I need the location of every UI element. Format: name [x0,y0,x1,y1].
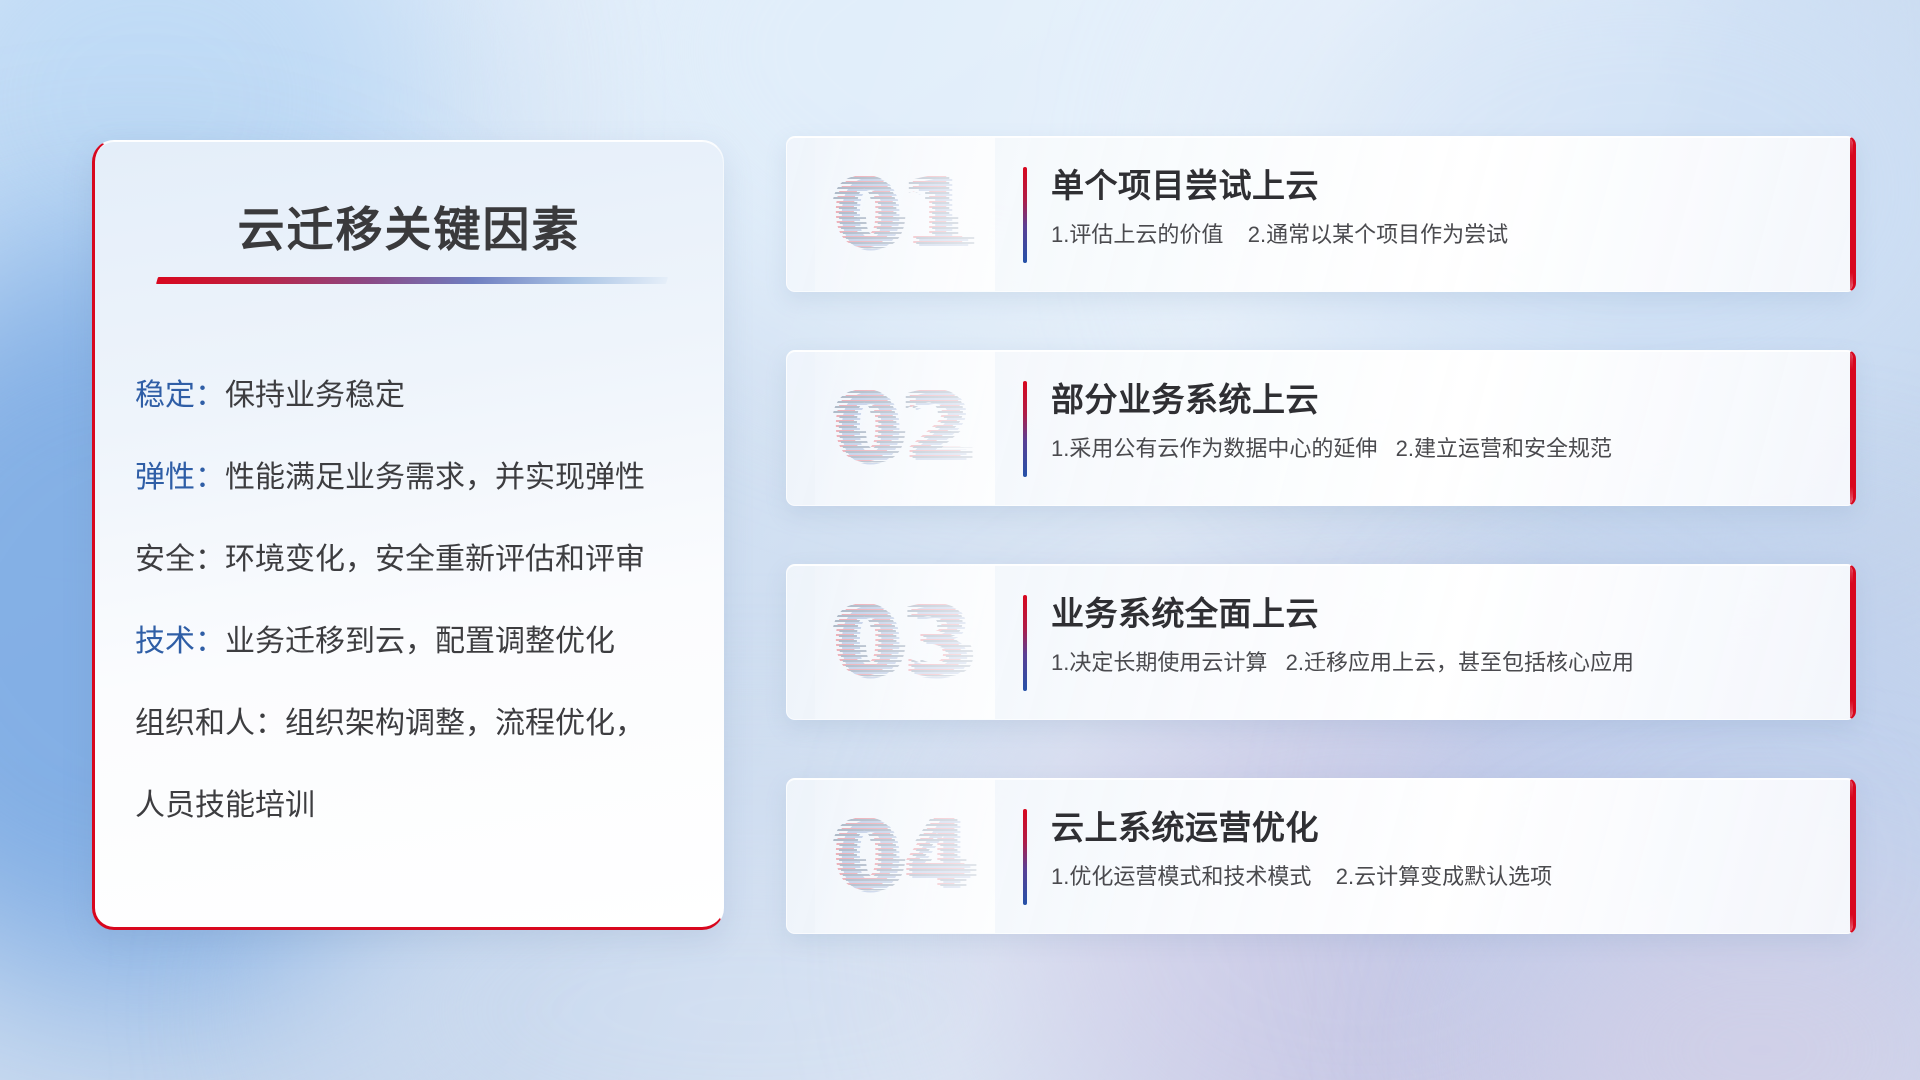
factor-label: 技术： [135,625,225,658]
stage-divider-accent [1023,167,1027,263]
factor-label: 稳定： [135,379,225,412]
list-item: 弹性：性能满足业务需求，并实现弹性 [135,463,695,493]
stage-detail: 1.决定长期使用云计算 2.迁移应用上云，甚至包括核心应用 [1051,648,1827,678]
list-item: 安全：环境变化，安全重新评估和评审 [135,545,695,575]
stage-title: 业务系统全面上云 [1051,593,1827,634]
stage-card-04[interactable]: 04 04 04 04 04 04 云上系统运营优化 1.优化运营模式和技术模式… [786,778,1856,934]
factor-text: 组织架构调整，流程优化， [285,707,645,740]
stage-content: 部分业务系统上云 1.采用公有云作为数据中心的延伸 2.建立运营和安全规范 [1051,379,1827,464]
title-underline-accent [156,277,668,284]
stage-number-glitch: 03 03 03 03 03 03 [815,565,995,719]
factor-text: 保持业务稳定 [225,379,405,412]
factor-text: 业务迁移到云，配置调整优化 [225,625,615,658]
stage-title: 部分业务系统上云 [1051,379,1827,420]
list-item-continuation: 人员技能培训 [135,791,695,821]
stage-card-01[interactable]: 01 01 01 01 01 01 单个项目尝试上云 1.评估上云的价值 2.通… [786,136,1856,292]
stage-divider-accent [1023,809,1027,905]
key-factors-panel: 云迁移关键因素 稳定：保持业务稳定 弹性：性能满足业务需求，并实现弹性 安全：环… [92,140,724,930]
list-item: 稳定：保持业务稳定 [135,381,695,411]
stage-divider-accent [1023,381,1027,477]
factor-text: 环境变化，安全重新评估和评审 [225,543,645,576]
factor-label: 弹性： [135,461,225,494]
stage-title: 单个项目尝试上云 [1051,165,1827,206]
stage-number-glitch: 02 02 02 02 02 02 [815,351,995,505]
stage-content: 业务系统全面上云 1.决定长期使用云计算 2.迁移应用上云，甚至包括核心应用 [1051,593,1827,678]
factor-text: 人员技能培训 [135,789,315,822]
stage-divider-accent [1023,595,1027,691]
factor-text: 性能满足业务需求，并实现弹性 [225,461,645,494]
stage-number-glitch: 01 01 01 01 01 01 [815,137,995,291]
stage-title: 云上系统运营优化 [1051,807,1827,848]
stage-content: 单个项目尝试上云 1.评估上云的价值 2.通常以某个项目作为尝试 [1051,165,1827,250]
page-title: 云迁移关键因素 [95,191,723,260]
list-item: 组织和人：组织架构调整，流程优化， [135,709,695,739]
stage-content: 云上系统运营优化 1.优化运营模式和技术模式 2.云计算变成默认选项 [1051,807,1827,892]
stage-number-glitch: 04 04 04 04 04 04 [815,779,995,933]
factor-label: 组织和人： [135,707,285,740]
key-factors-list: 稳定：保持业务稳定 弹性：性能满足业务需求，并实现弹性 安全：环境变化，安全重新… [135,381,695,873]
adoption-stages-list: 01 01 01 01 01 01 单个项目尝试上云 1.评估上云的价值 2.通… [786,136,1856,992]
stage-card-03[interactable]: 03 03 03 03 03 03 业务系统全面上云 1.决定长期使用云计算 2… [786,564,1856,720]
stage-detail: 1.采用公有云作为数据中心的延伸 2.建立运营和安全规范 [1051,434,1827,464]
factor-label: 安全： [135,543,225,576]
list-item: 技术：业务迁移到云，配置调整优化 [135,627,695,657]
stage-detail: 1.优化运营模式和技术模式 2.云计算变成默认选项 [1051,862,1827,892]
stage-card-02[interactable]: 02 02 02 02 02 02 部分业务系统上云 1.采用公有云作为数据中心… [786,350,1856,506]
stage-detail: 1.评估上云的价值 2.通常以某个项目作为尝试 [1051,220,1827,250]
